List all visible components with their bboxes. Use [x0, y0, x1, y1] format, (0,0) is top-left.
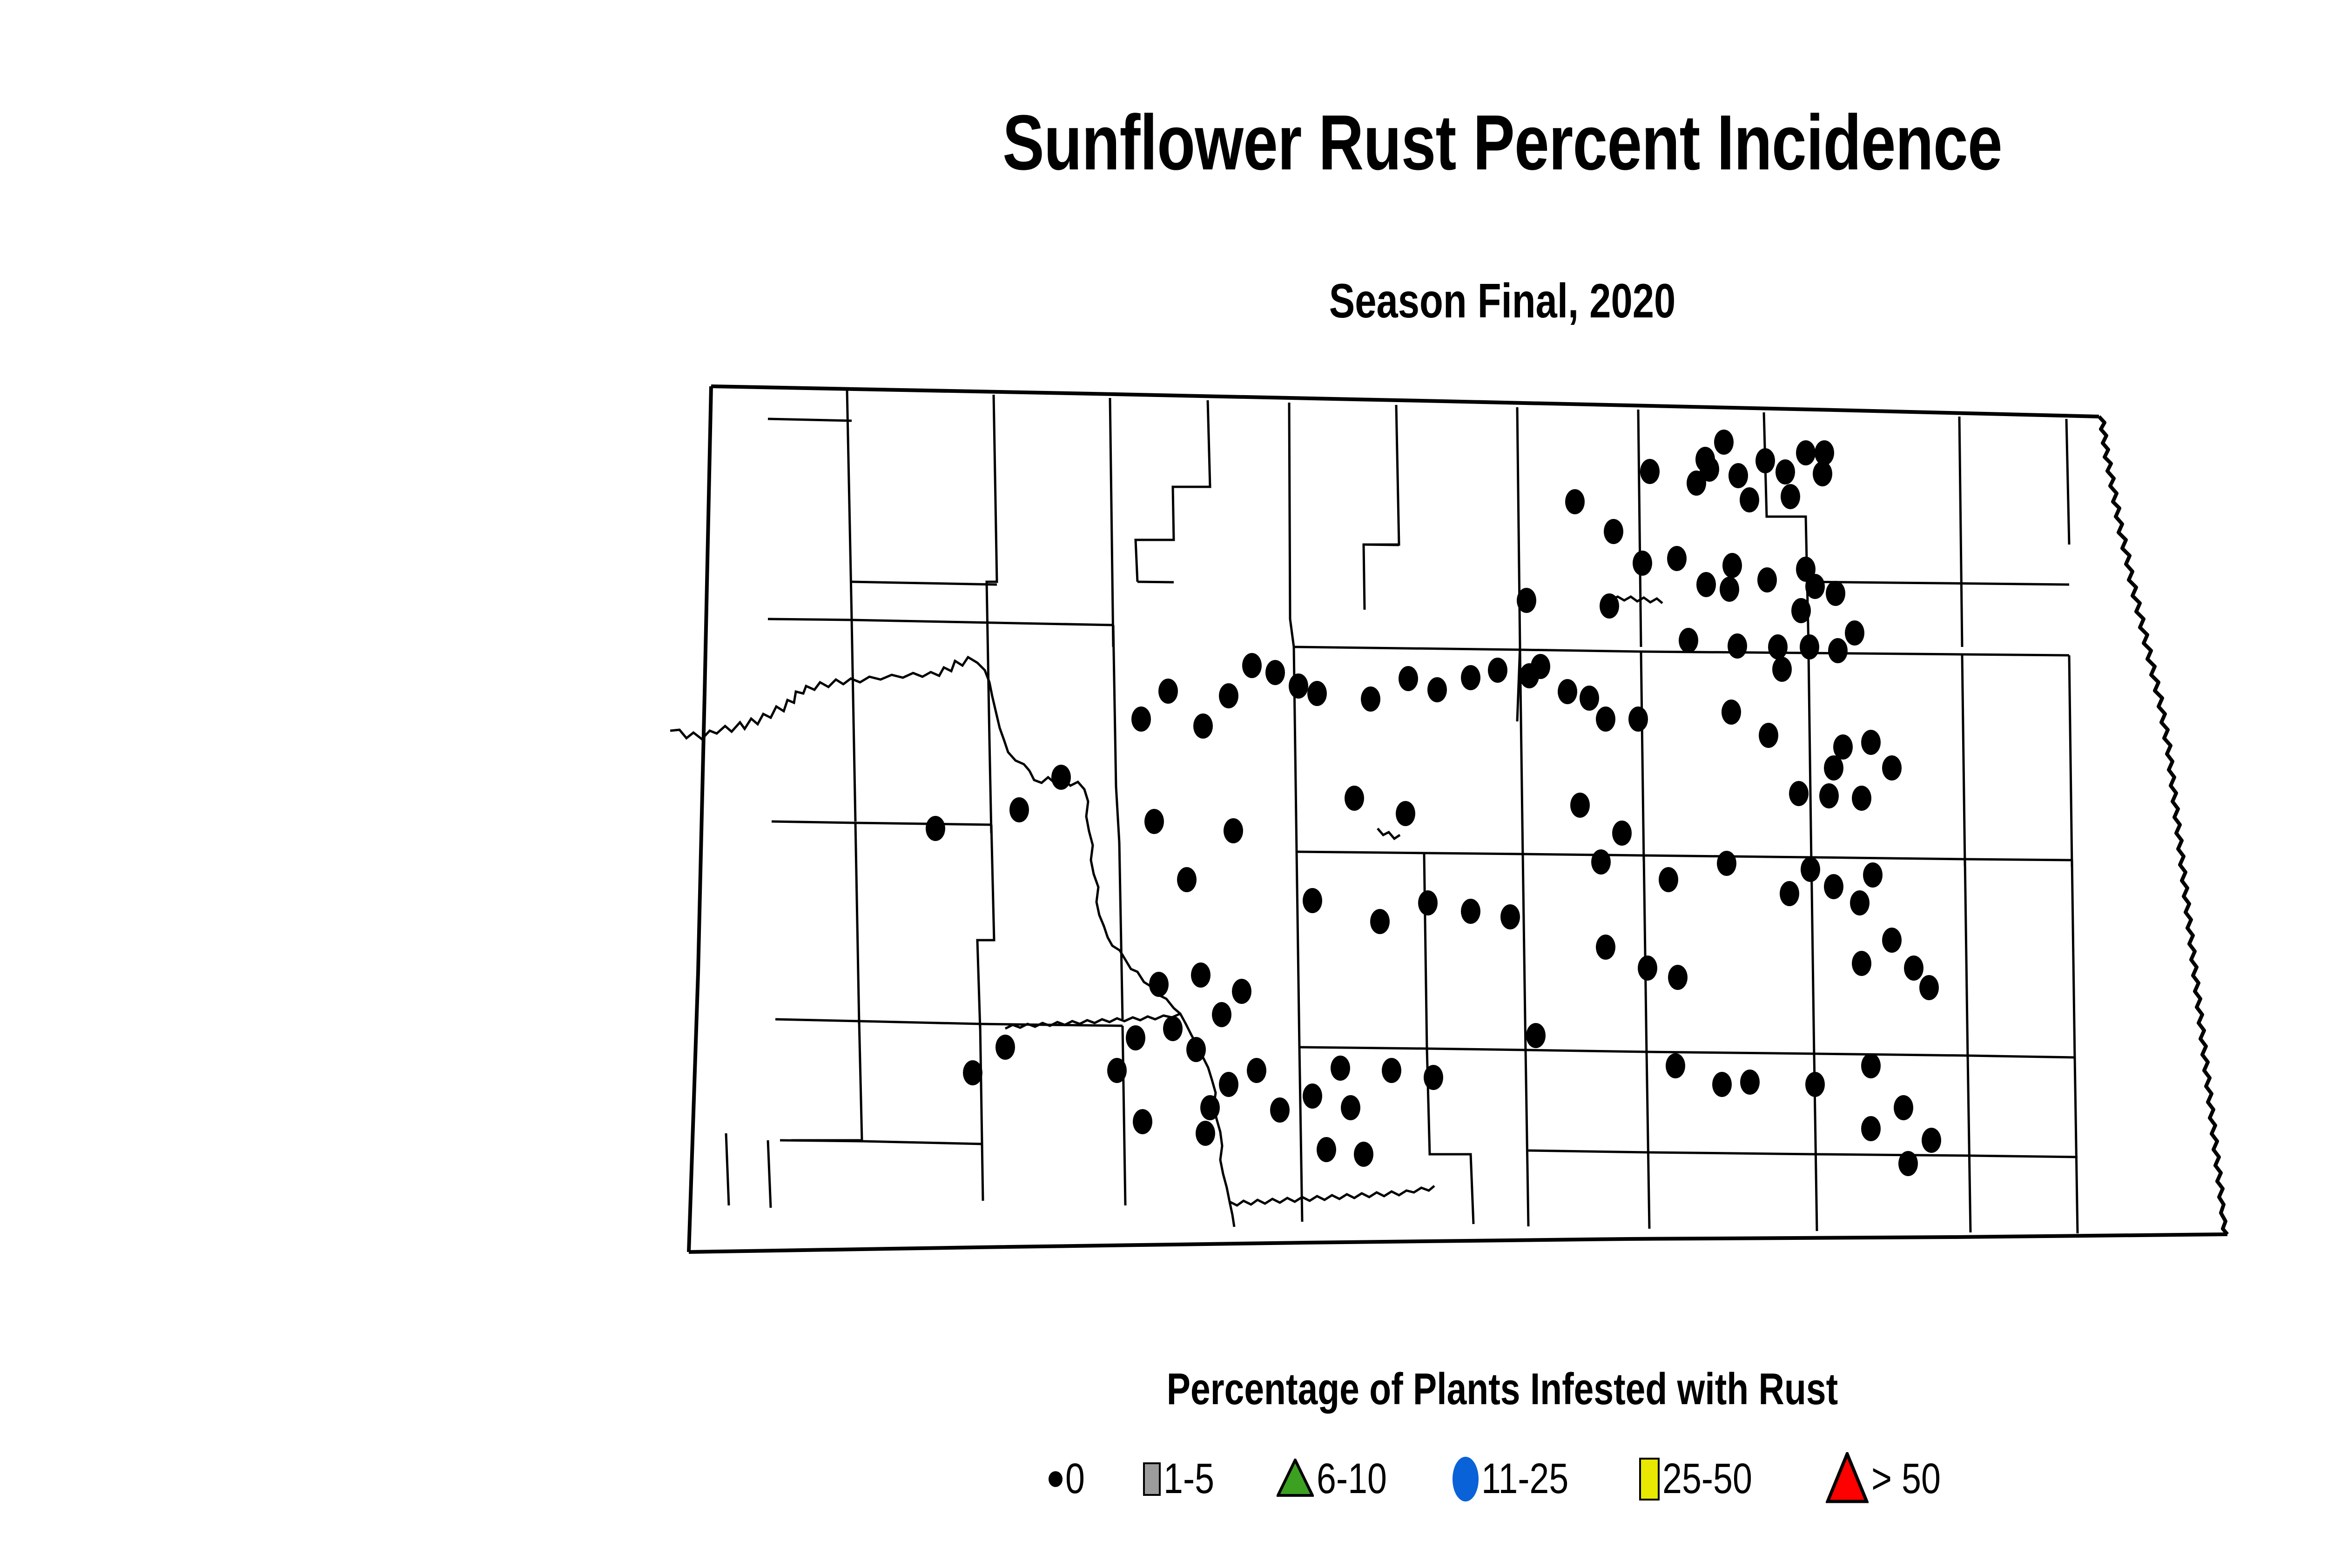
- survey-point: [1728, 463, 1748, 488]
- legend-label-6-10: 6-10: [1317, 1454, 1387, 1503]
- survey-point: [1861, 730, 1881, 755]
- gray-square-icon: [1143, 1462, 1161, 1496]
- survey-point: [1898, 1151, 1918, 1176]
- survey-point: [1354, 1142, 1373, 1167]
- survey-point: [1289, 673, 1308, 699]
- state-outline: [689, 386, 2227, 1252]
- legend-item-0[interactable]: 0: [1049, 1454, 1089, 1503]
- survey-point: [1824, 874, 1843, 899]
- survey-point: [1307, 681, 1327, 706]
- survey-point-layer: [926, 430, 1941, 1176]
- survey-point: [1800, 634, 1819, 660]
- survey-point: [1193, 713, 1213, 739]
- survey-point: [1796, 440, 1816, 465]
- survey-point: [1565, 489, 1585, 514]
- survey-point: [1131, 707, 1151, 732]
- survey-point: [1051, 765, 1071, 790]
- survey-point: [1638, 956, 1657, 981]
- survey-point: [1418, 890, 1438, 915]
- survey-point: [1570, 793, 1590, 818]
- survey-point: [1200, 1095, 1220, 1120]
- survey-point: [1341, 1095, 1360, 1120]
- survey-point: [1640, 459, 1660, 484]
- legend-item-1-5[interactable]: 1-5: [1143, 1454, 1225, 1503]
- legend-item-gt-50[interactable]: > 50: [1826, 1452, 1956, 1506]
- survey-point: [1819, 783, 1839, 808]
- survey-point: [1861, 1116, 1881, 1141]
- survey-point: [1317, 1137, 1336, 1162]
- survey-point: [1781, 484, 1800, 509]
- survey-point: [1720, 577, 1739, 602]
- survey-point: [1517, 588, 1536, 613]
- survey-point: [1191, 962, 1211, 988]
- survey-point: [1722, 700, 1741, 725]
- red-triangle-icon: [1826, 1452, 1869, 1506]
- survey-point: [1247, 1058, 1266, 1083]
- survey-point: [1270, 1097, 1290, 1123]
- survey-point: [1695, 447, 1715, 472]
- survey-point: [1882, 928, 1902, 953]
- survey-point: [1772, 657, 1792, 682]
- survey-point: [1722, 553, 1742, 578]
- survey-point: [1424, 1065, 1443, 1090]
- survey-point: [1740, 487, 1759, 512]
- survey-point: [1728, 633, 1747, 659]
- survey-point: [1922, 1128, 1941, 1153]
- survey-point: [1789, 781, 1809, 806]
- survey-point: [1919, 975, 1939, 1000]
- survey-point: [1717, 851, 1736, 876]
- survey-point: [1904, 956, 1923, 981]
- north-dakota-map: [652, 321, 2280, 1322]
- survey-point: [1224, 818, 1243, 843]
- survey-point: [1345, 786, 1364, 811]
- survey-point: [1852, 951, 1871, 976]
- survey-point: [926, 816, 945, 841]
- survey-point: [1149, 972, 1169, 997]
- survey-point: [1531, 654, 1550, 679]
- survey-point: [1212, 1002, 1231, 1027]
- legend-item-25-50[interactable]: 25-50: [1639, 1454, 1772, 1503]
- survey-point: [1679, 628, 1698, 653]
- survey-point: [1768, 634, 1788, 660]
- survey-point: [1427, 677, 1447, 702]
- survey-point: [1461, 899, 1480, 924]
- survey-point: [1633, 551, 1652, 576]
- survey-point: [1667, 546, 1687, 571]
- survey-point: [1805, 1072, 1825, 1097]
- survey-point: [1852, 786, 1871, 811]
- survey-point: [1791, 598, 1811, 623]
- survey-point: [1107, 1058, 1127, 1083]
- survey-point: [1596, 935, 1615, 960]
- survey-point: [1186, 1037, 1206, 1062]
- legend-caption: Percentage of Plants Infested with Rust: [301, 1364, 2327, 1415]
- survey-point: [1196, 1121, 1215, 1146]
- survey-point: [1158, 679, 1178, 704]
- legend-label-gt-50: > 50: [1871, 1454, 1941, 1503]
- survey-point: [1009, 797, 1029, 822]
- survey-point: [1177, 867, 1197, 892]
- page-title: Sunflower Rust Percent Incidence: [301, 98, 2327, 188]
- survey-point: [1740, 1070, 1760, 1095]
- survey-point: [1826, 581, 1845, 606]
- survey-point: [1163, 1016, 1183, 1041]
- legend-item-11-25[interactable]: 11-25: [1453, 1454, 1587, 1503]
- survey-point: [1396, 801, 1415, 826]
- survey-point: [1133, 1109, 1152, 1134]
- blue-ellipse-icon: [1453, 1457, 1479, 1501]
- survey-point: [1712, 1072, 1732, 1097]
- survey-point: [1882, 755, 1902, 781]
- survey-point: [1604, 519, 1623, 544]
- survey-point: [995, 1035, 1015, 1060]
- survey-point: [1666, 1053, 1685, 1078]
- survey-point: [1668, 965, 1688, 990]
- legend-label-25-50: 25-50: [1662, 1454, 1752, 1503]
- survey-point: [1370, 909, 1390, 934]
- survey-point: [1591, 849, 1611, 875]
- survey-point: [1612, 821, 1632, 846]
- legend: 0 1-5 6-10 11-25 25-50 > 50: [0, 1452, 2327, 1506]
- survey-point: [1219, 683, 1238, 708]
- survey-point: [1696, 572, 1716, 597]
- survey-point: [1894, 1095, 1913, 1120]
- survey-point: [1815, 440, 1834, 465]
- survey-point: [1399, 666, 1418, 691]
- survey-point: [1850, 890, 1870, 915]
- survey-point: [1331, 1056, 1350, 1081]
- survey-point: [1861, 1053, 1881, 1078]
- survey-point: [1714, 430, 1734, 455]
- survey-point: [1759, 723, 1778, 748]
- survey-point: [1144, 809, 1164, 834]
- survey-point: [1558, 679, 1577, 704]
- black-dot-icon: [1049, 1471, 1063, 1487]
- survey-point: [1863, 862, 1883, 888]
- legend-label-0: 0: [1065, 1454, 1085, 1503]
- survey-point: [1488, 658, 1507, 683]
- green-triangle-icon: [1277, 1459, 1314, 1499]
- survey-point: [1303, 888, 1322, 913]
- survey-point: [1242, 653, 1262, 678]
- survey-point: [1526, 1023, 1546, 1048]
- survey-point: [1303, 1083, 1322, 1109]
- survey-point: [1845, 620, 1864, 646]
- survey-point: [1219, 1072, 1238, 1097]
- survey-point: [1796, 557, 1816, 582]
- legend-item-6-10[interactable]: 6-10: [1277, 1454, 1402, 1503]
- survey-point: [1580, 686, 1599, 711]
- survey-point: [1600, 593, 1619, 619]
- survey-point: [1126, 1025, 1145, 1050]
- survey-point: [1232, 979, 1251, 1004]
- survey-point: [1659, 867, 1678, 892]
- survey-point: [1776, 459, 1795, 485]
- survey-point: [1461, 665, 1480, 690]
- map-svg: [652, 321, 2280, 1322]
- survey-point: [1361, 686, 1380, 712]
- county-boundaries: [670, 390, 2078, 1233]
- survey-point: [1265, 660, 1285, 685]
- survey-point: [1757, 567, 1777, 592]
- survey-point: [1801, 857, 1820, 882]
- survey-point: [963, 1060, 982, 1085]
- survey-point: [1828, 638, 1848, 663]
- survey-point: [1500, 904, 1520, 929]
- survey-point: [1382, 1058, 1401, 1083]
- yellow-square-icon: [1639, 1458, 1660, 1501]
- legend-label-1-5: 1-5: [1163, 1454, 1214, 1503]
- survey-point: [1628, 707, 1648, 732]
- survey-point: [1596, 707, 1615, 732]
- survey-point: [1755, 448, 1775, 473]
- survey-point: [1824, 755, 1843, 781]
- survey-point: [1780, 881, 1799, 906]
- legend-label-11-25: 11-25: [1481, 1454, 1568, 1503]
